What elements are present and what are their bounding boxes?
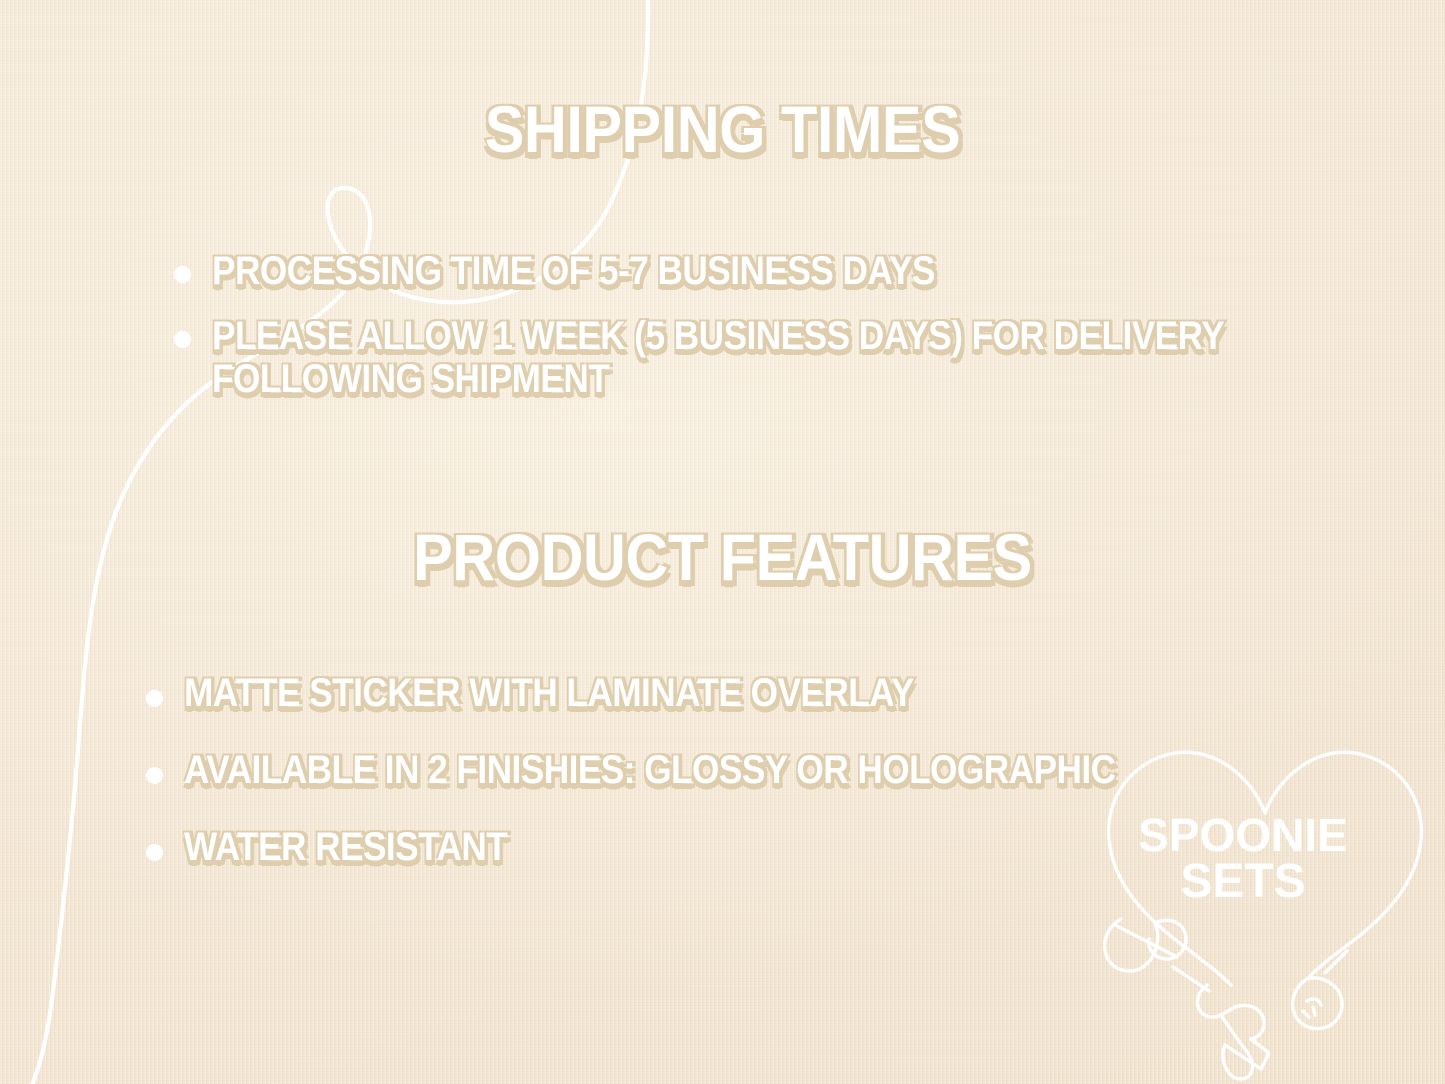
- brand-logo: SPOONIE SETS: [1085, 735, 1445, 1084]
- bullet-dot-icon: [146, 767, 163, 784]
- bullet-dot-icon: [146, 844, 163, 861]
- shipping-bullet-list: PROCESSING TIME OF 5-7 BUSINESS DAYS PLE…: [160, 250, 1440, 424]
- bullet-list: PROCESSING TIME OF 5-7 BUSINESS DAYS PLE…: [160, 250, 1440, 402]
- bullet-dot-icon: [146, 690, 163, 707]
- heading-shipping-times: SHIPPING TIMES: [72, 96, 1373, 162]
- list-item-label: PLEASE ALLOW 1 WEEK (5 BUSINESS DAYS) FO…: [212, 315, 1293, 401]
- list-item: PROCESSING TIME OF 5-7 BUSINESS DAYS: [160, 250, 1440, 293]
- poster-canvas: SHIPPING TIMES PROCESSING TIME OF 5-7 BU…: [0, 0, 1445, 1084]
- list-item: MATTE STICKER WITH LAMINATE OVERLAY: [132, 672, 1442, 715]
- list-item: PLEASE ALLOW 1 WEEK (5 BUSINESS DAYS) FO…: [160, 315, 1440, 401]
- bullet-dot-icon: [174, 266, 191, 283]
- list-item-label: MATTE STICKER WITH LAMINATE OVERLAY: [184, 672, 1291, 715]
- stethoscope-heart-icon: [1085, 735, 1445, 1084]
- bullet-dot-icon: [174, 331, 191, 348]
- list-item-label: PROCESSING TIME OF 5-7 BUSINESS DAYS: [212, 250, 1293, 293]
- heading-product-features: PRODUCT FEATURES: [72, 524, 1373, 590]
